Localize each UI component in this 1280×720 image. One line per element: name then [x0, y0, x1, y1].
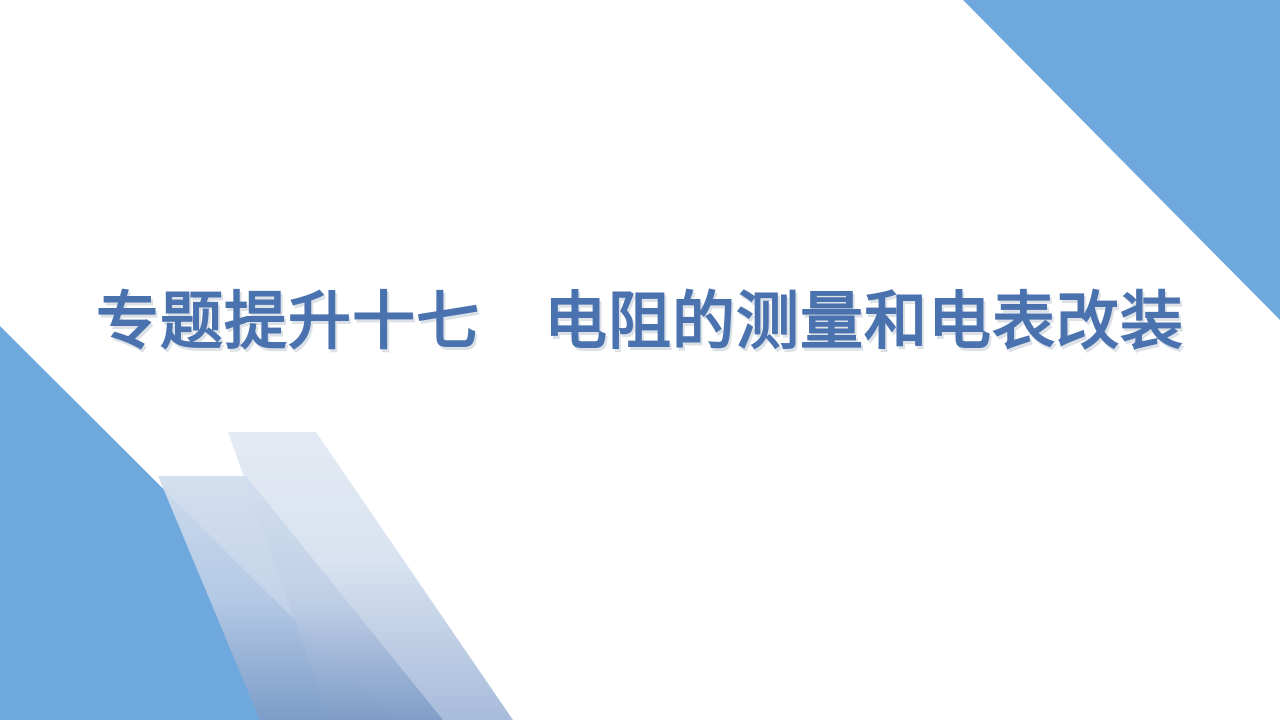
bottom-left-accent-triangle [0, 326, 395, 720]
title-slide: 专题提升十七 电阻的测量和电表改装 [0, 0, 1280, 720]
page-title: 专题提升十七 电阻的测量和电表改装 [96, 290, 1184, 353]
slide-title-block: 专题提升十七 电阻的测量和电表改装 [0, 262, 1280, 380]
inner-gradient-band [158, 476, 443, 720]
outer-gradient-band [228, 432, 513, 720]
